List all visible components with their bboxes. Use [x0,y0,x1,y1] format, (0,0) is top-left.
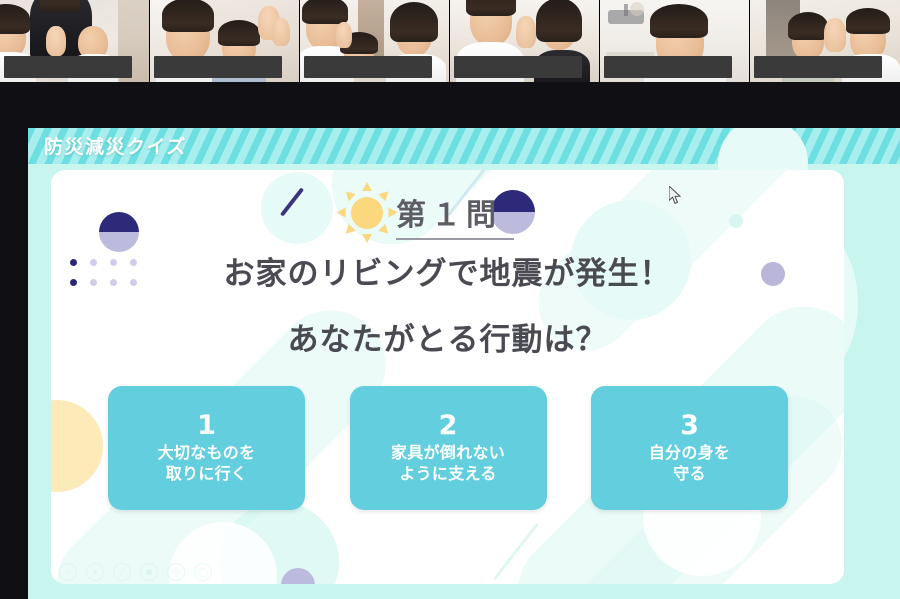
answer-option-1-line-2: 取りに行く [166,463,248,484]
participant-name-label-redacted [604,56,732,78]
participant-name-label-redacted [304,56,432,78]
decor-watermark-icons: ○●╱ ☗⚲◯ [59,563,212,581]
mouse-cursor [669,186,682,205]
answer-option-1[interactable]: 1 大切なものを 取りに行く [108,386,305,510]
decor-circle [729,214,743,228]
participant-name-label-redacted [454,56,582,78]
participant-name-label-redacted [754,56,882,78]
answer-option-2-line-1: 家具が倒れない [391,442,505,463]
answer-option-2-number: 2 [439,412,458,440]
screen-root: 防災減災クイズ [0,0,900,599]
question-number-block: 第１問 [396,190,514,240]
participant-tile-5[interactable] [600,0,750,82]
slide-content-card: ○●╱ ☗⚲◯ 第１問 [51,170,844,584]
participant-tile-2[interactable] [150,0,300,82]
question-number-underline [396,238,514,240]
participant-tile-6[interactable] [750,0,900,82]
participant-tile-4[interactable] [450,0,600,82]
answer-options: 1 大切なものを 取りに行く 2 家具が倒れない ように支える 3 自分の身を … [108,386,788,510]
participant-filmstrip [0,0,900,82]
slide-banner-title: 防災減災クイズ [44,132,187,159]
presentation-slide: 防災減災クイズ [28,128,900,599]
decor-blob [261,172,333,244]
decor-blob-yellow [51,400,103,492]
answer-option-3-line-2: 守る [673,463,706,484]
shared-screen-stage: 防災減災クイズ [0,82,900,599]
question-number: 第１問 [396,190,514,237]
participant-name-label-redacted [4,56,132,78]
answer-option-3-line-1: 自分の身を [649,442,731,463]
answer-option-2-line-2: ように支える [399,463,496,484]
sun-icon [336,182,398,244]
question-line-2: あなたがとる行動は？ [51,314,844,359]
answer-option-1-line-1: 大切なものを [158,442,256,463]
answer-option-1-number: 1 [197,412,216,440]
answer-option-2[interactable]: 2 家具が倒れない ように支える [350,386,547,510]
participant-tile-1[interactable] [0,0,150,82]
answer-option-3[interactable]: 3 自分の身を 守る [591,386,788,510]
question-line-1: お家のリビングで地震が発生！ [51,248,844,293]
decor-half-circle [281,568,315,584]
decor-half-circle [99,212,139,252]
participant-tile-3[interactable] [300,0,450,82]
answer-option-3-number: 3 [680,412,699,440]
participant-name-label-redacted [154,56,282,78]
